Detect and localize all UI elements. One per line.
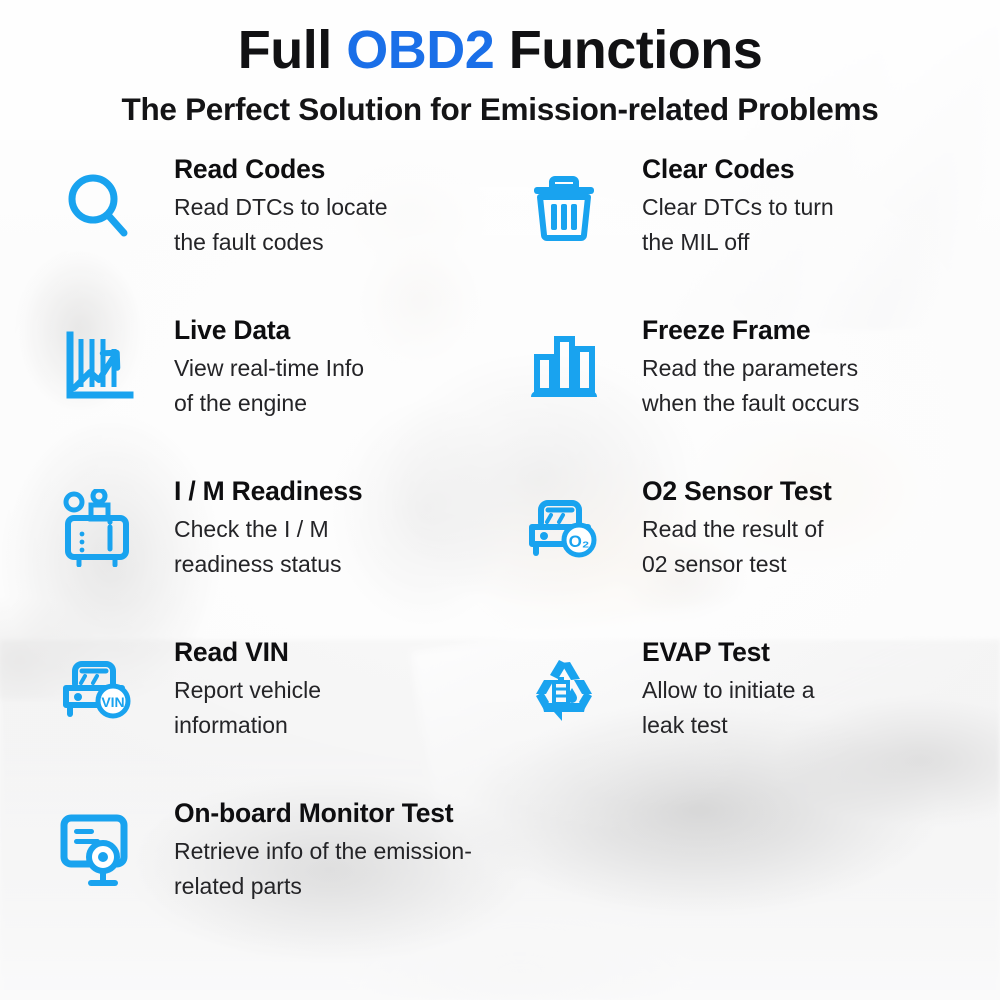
feature-freeze-frame: Freeze Frame Read the parameters when th…: [500, 313, 1000, 474]
header: Full OBD2 Functions The Perfect Solution…: [0, 0, 1000, 128]
feature-heading: Freeze Frame: [642, 315, 859, 346]
vin-badge-text: VIN: [101, 694, 124, 710]
bar-chart-trend-up-icon: [52, 321, 144, 413]
feature-heading: Read VIN: [174, 637, 321, 668]
feature-heading: I / M Readiness: [174, 476, 362, 507]
magnifier-icon: [52, 160, 144, 252]
feature-clear-codes: Clear Codes Clear DTCs to turn the MIL o…: [500, 152, 1000, 313]
feature-text: Freeze Frame Read the parameters when th…: [642, 313, 859, 422]
feature-description: Retrieve info of the emission- related p…: [174, 834, 472, 906]
title-accent-obd2: OBD2: [346, 20, 494, 80]
feature-heading: Read Codes: [174, 154, 387, 185]
feature-im-readiness: I / M Readiness Check the I / M readines…: [0, 474, 500, 635]
feature-description: Clear DTCs to turn the MIL off: [642, 190, 834, 262]
feature-text: Read VIN Report vehicle information: [174, 635, 321, 744]
page-title: Full OBD2 Functions: [0, 22, 1000, 79]
feature-text: Live Data View real-time Info of the eng…: [174, 313, 364, 422]
infographic-page: Full OBD2 Functions The Perfect Solution…: [0, 0, 1000, 1000]
feature-heading: EVAP Test: [642, 637, 815, 668]
car-vin-icon: VIN: [52, 643, 144, 735]
feature-heading: Live Data: [174, 315, 364, 346]
monitor-scan-icon: [52, 804, 144, 896]
feature-text: I / M Readiness Check the I / M readines…: [174, 474, 362, 583]
feature-read-codes: Read Codes Read DTCs to locate the fault…: [0, 152, 500, 313]
inspection-machine-icon: [52, 482, 144, 574]
feature-read-vin: VIN Read VIN Report vehicle information: [0, 635, 500, 796]
title-part-1: Full: [238, 20, 346, 80]
feature-text: Clear Codes Clear DTCs to turn the MIL o…: [642, 152, 834, 261]
feature-o2-sensor-test: O₂ O2 Sensor Test Read the result of 02 …: [500, 474, 1000, 635]
feature-heading: Clear Codes: [642, 154, 834, 185]
recycle-fuel-icon: [518, 643, 610, 735]
feature-description: Read DTCs to locate the fault codes: [174, 190, 387, 262]
page-subtitle: The Perfect Solution for Emission-relate…: [0, 91, 1000, 128]
feature-description: Check the I / M readiness status: [174, 512, 362, 584]
feature-text: EVAP Test Allow to initiate a leak test: [642, 635, 815, 744]
feature-grid: Read Codes Read DTCs to locate the fault…: [0, 152, 1000, 957]
feature-description: Report vehicle information: [174, 673, 321, 745]
feature-live-data: Live Data View real-time Info of the eng…: [0, 313, 500, 474]
feature-heading: O2 Sensor Test: [642, 476, 832, 507]
feature-heading: On-board Monitor Test: [174, 798, 472, 829]
car-o2-sensor-icon: O₂: [518, 482, 610, 574]
bar-chart-icon: [518, 321, 610, 413]
feature-evap-test: EVAP Test Allow to initiate a leak test: [500, 635, 1000, 796]
feature-description: Allow to initiate a leak test: [642, 673, 815, 745]
feature-text: Read Codes Read DTCs to locate the fault…: [174, 152, 387, 261]
feature-text: On-board Monitor Test Retrieve info of t…: [174, 796, 472, 905]
feature-description: Read the parameters when the fault occur…: [642, 351, 859, 423]
trash-can-icon: [518, 160, 610, 252]
feature-onboard-monitor-test: On-board Monitor Test Retrieve info of t…: [0, 796, 1000, 957]
feature-description: View real-time Info of the engine: [174, 351, 364, 423]
feature-text: O2 Sensor Test Read the result of 02 sen…: [642, 474, 832, 583]
o2-badge-text: O₂: [569, 532, 590, 551]
feature-description: Read the result of 02 sensor test: [642, 512, 832, 584]
title-part-2: Functions: [494, 20, 762, 80]
